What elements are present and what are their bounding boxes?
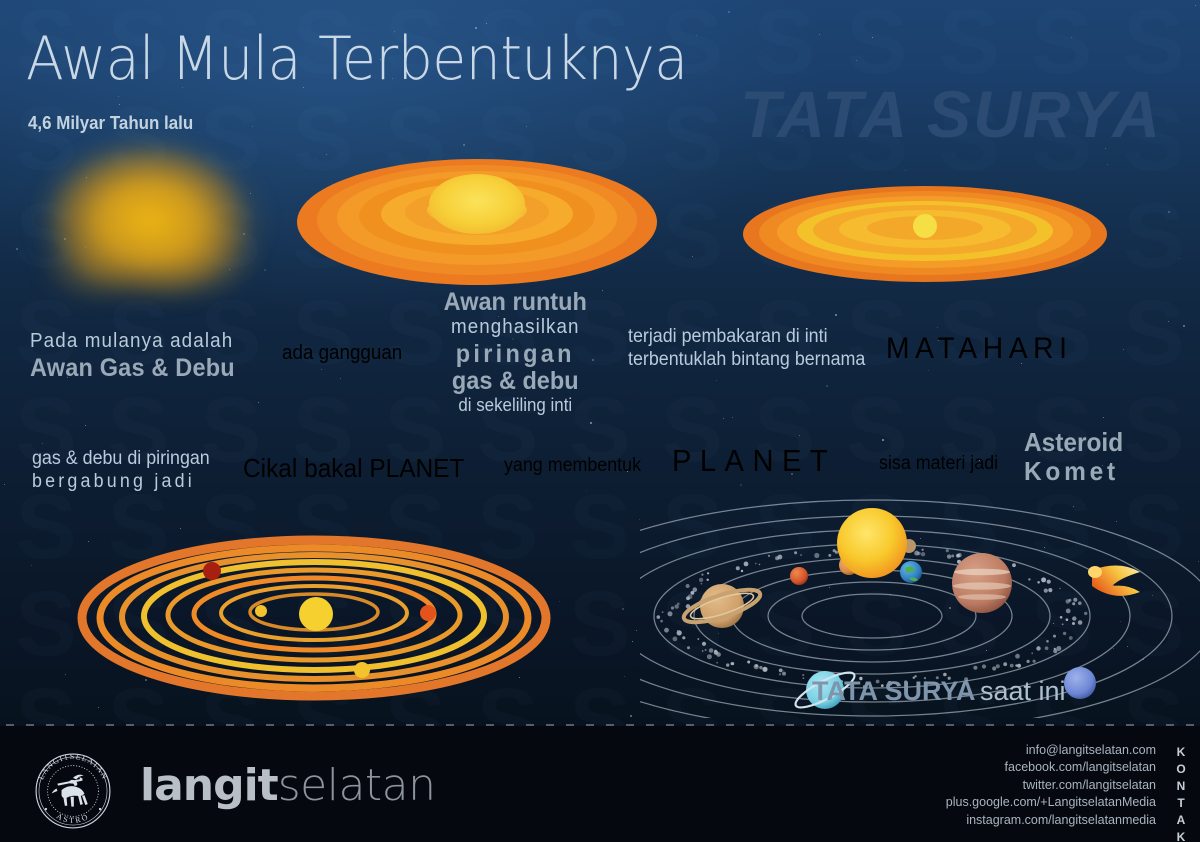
solar-system-caption-bold: TATA SURYA — [812, 676, 976, 706]
planetesimal-jingga — [420, 605, 436, 621]
step-accretion: gas & debu di piringan bergabung jadi — [32, 448, 221, 493]
step-asteroid-line1: Asteroid — [1024, 427, 1123, 458]
step-collapse-line5: di sekeliling inti — [433, 395, 598, 416]
step-collapse: Awan runtuh menghasilkan piringan gas & … — [433, 288, 608, 416]
gas-cloud-nebula — [14, 122, 286, 330]
kontak-vertical-label: KONTAK — [1172, 744, 1190, 842]
planet-bumi — [900, 561, 922, 583]
wordmark-bold: langit — [140, 760, 278, 811]
langitselatan-seal-logo: LANGITSELATAN ASTRO — [32, 750, 114, 832]
step-asteroid: Asteroid Komet — [1024, 427, 1129, 487]
contact-email[interactable]: info@langitselatan.com — [946, 742, 1156, 759]
step-disturbance-label: ada gangguan — [282, 342, 402, 365]
contact-list: info@langitselatan.com facebook.com/lang… — [946, 742, 1156, 829]
komet — [1088, 565, 1140, 595]
contact-facebook[interactable]: facebook.com/langitselatan — [946, 759, 1156, 776]
solar-system-caption-light: saat ini — [980, 676, 1066, 706]
protoplanetary-disk-1 — [292, 138, 662, 298]
step-star-matahari: MATAHARI — [886, 332, 1073, 366]
solar-system-caption: TATA SURYA saat ini — [812, 676, 1066, 707]
contact-twitter[interactable]: twitter.com/langitselatan — [946, 777, 1156, 794]
step-forming-label: yang membentuk — [504, 455, 641, 477]
step-collapse-line3: piringan — [433, 340, 598, 369]
step-star-line2: terbentuklah bintang bernama — [628, 349, 865, 371]
planet-neptunus — [1064, 667, 1096, 699]
step-accretion-line1: gas & debu di piringan — [32, 448, 210, 470]
footer-divider — [0, 724, 1200, 726]
svg-text:ASTRO: ASTRO — [55, 811, 91, 825]
step-cloud-bold: Awan Gas & Debu — [30, 354, 235, 383]
step-cloud: Pada mulanya adalah Awan Gas & Debu — [30, 330, 248, 383]
wordmark-light: selatan — [278, 760, 436, 811]
planet-mars — [790, 567, 808, 585]
step-collapse-line1: Awan runtuh — [433, 288, 598, 317]
page-title: Awal Mula Terbentuknya — [26, 24, 688, 94]
step-star-line1: terjadi pembakaran di inti — [628, 326, 865, 348]
contact-googleplus[interactable]: plus.google.com/+LangitselatanMedia — [946, 794, 1156, 811]
step-planet-label: PLANET — [672, 443, 836, 479]
step-accretion-line2: bergabung jadi — [32, 471, 210, 493]
step-collapse-line4: gas & debu — [433, 367, 598, 396]
matahari — [837, 508, 907, 578]
step-leftover-label: sisa materi jadi — [879, 453, 998, 475]
step-cloud-light: Pada mulanya adalah — [30, 330, 235, 353]
protoplanetary-disk-2 — [740, 172, 1110, 296]
page-title-tata-surya: TATA SURYA — [740, 76, 1162, 152]
planetesimal-kuning-kecil — [255, 605, 267, 617]
protosun — [299, 597, 333, 631]
step-star: terjadi pembakaran di inti terbentuklah … — [628, 326, 880, 371]
contact-instagram[interactable]: instagram.com/langitselatanmedia — [946, 812, 1156, 829]
langitselatan-wordmark: langitselatan — [140, 760, 436, 811]
centaur-archer-icon — [52, 775, 88, 807]
step-collapse-line2: menghasilkan — [433, 316, 598, 339]
step-asteroid-line2: Komet — [1024, 456, 1123, 487]
planetesimal-kuning — [354, 662, 370, 678]
planet-jupiter — [952, 553, 1012, 613]
infographic-poster: SSSSSSSSSSSSSSSSSSSSSSSSSSSSSSSSSSSSSSSS… — [0, 0, 1200, 842]
protoplanetary-system — [74, 518, 554, 714]
step-protoplanet-label: Cikal bakal PLANET — [243, 453, 464, 484]
planetesimal-merah — [203, 562, 221, 580]
